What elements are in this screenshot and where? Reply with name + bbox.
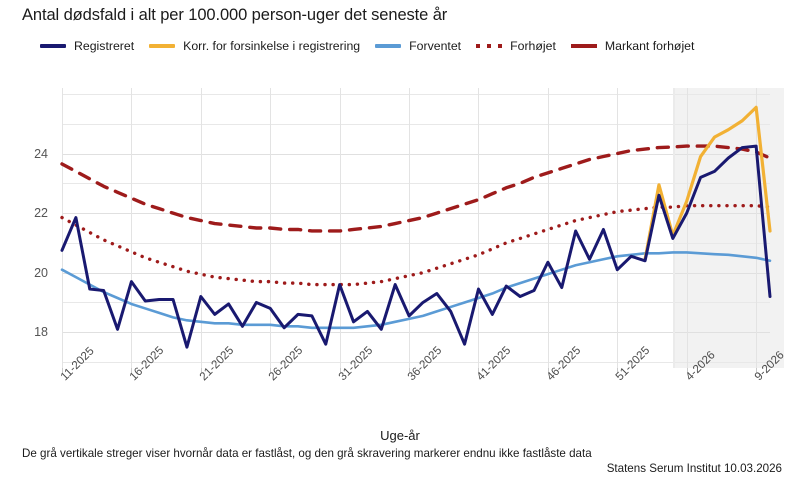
y-axis-tick-label: 22	[34, 206, 48, 220]
series-line-markant-forh-jet	[62, 146, 770, 231]
y-axis-tick-label: 24	[34, 147, 48, 161]
y-axis-tick-label: 20	[34, 266, 48, 280]
x-axis-title: Uge-år	[0, 428, 800, 443]
y-axis-tick-label: 18	[34, 325, 48, 339]
chart-container: Antal dødsfald i alt per 100.000 person-…	[0, 0, 800, 480]
series-line-forventet	[62, 252, 770, 327]
series-line-korr-for-forsinkelse-i-registrering	[645, 107, 770, 259]
series-lines	[62, 88, 770, 368]
plot-area	[62, 88, 770, 368]
chart-credit: Statens Serum Institut 10.03.2026	[607, 462, 782, 475]
x-axis-labels: 11-202516-202521-202526-202531-202536-20…	[0, 0, 800, 60]
y-axis-labels: 18202224	[0, 88, 56, 368]
chart-footnote: De grå vertikale streger viser hvornår d…	[22, 447, 592, 460]
